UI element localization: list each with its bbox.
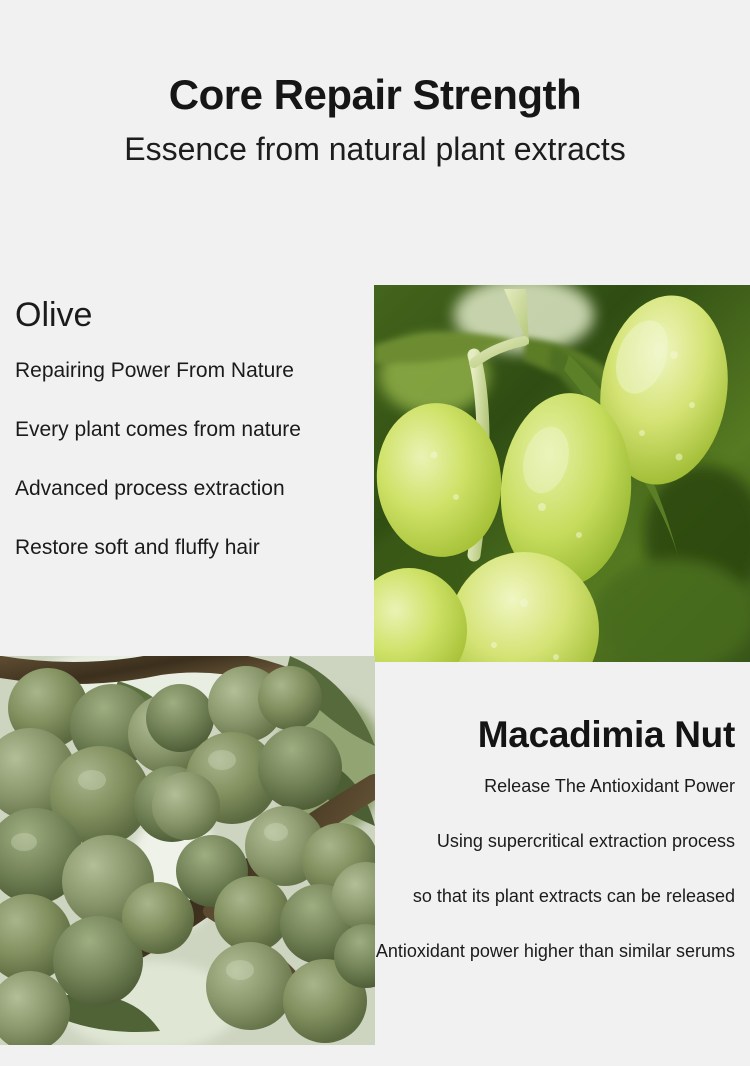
olive-benefit-line: Restore soft and fluffy hair xyxy=(15,537,365,559)
olive-benefit-line: Advanced process extraction xyxy=(15,478,365,500)
macadamia-heading: Macadimia Nut xyxy=(375,716,735,755)
page-subtitle: Essence from natural plant extracts xyxy=(0,132,750,167)
macadamia-benefit-line: Antioxidant power higher than similar se… xyxy=(375,942,735,961)
macadamia-benefit-line: Using supercritical extraction process xyxy=(375,832,735,851)
macadamia-text-block: Macadimia Nut Release The Antioxidant Po… xyxy=(375,716,735,960)
macadamia-benefit-line: Release The Antioxidant Power xyxy=(375,777,735,796)
olive-photo-illustration xyxy=(374,285,750,662)
olive-text-block: Olive Repairing Power From Nature Every … xyxy=(15,298,365,559)
promo-page: Core Repair Strength Essence from natura… xyxy=(0,0,750,1066)
olive-heading: Olive xyxy=(15,298,365,334)
olive-photo xyxy=(374,285,750,662)
header-block: Core Repair Strength Essence from natura… xyxy=(0,72,750,167)
macadamia-benefit-line: so that its plant extracts can be releas… xyxy=(375,887,735,906)
olive-benefit-line: Every plant comes from nature xyxy=(15,419,365,441)
page-title: Core Repair Strength xyxy=(0,72,750,118)
olive-benefit-line: Repairing Power From Nature xyxy=(15,360,365,382)
macadamia-photo-illustration xyxy=(0,656,375,1045)
macadamia-photo xyxy=(0,656,375,1045)
